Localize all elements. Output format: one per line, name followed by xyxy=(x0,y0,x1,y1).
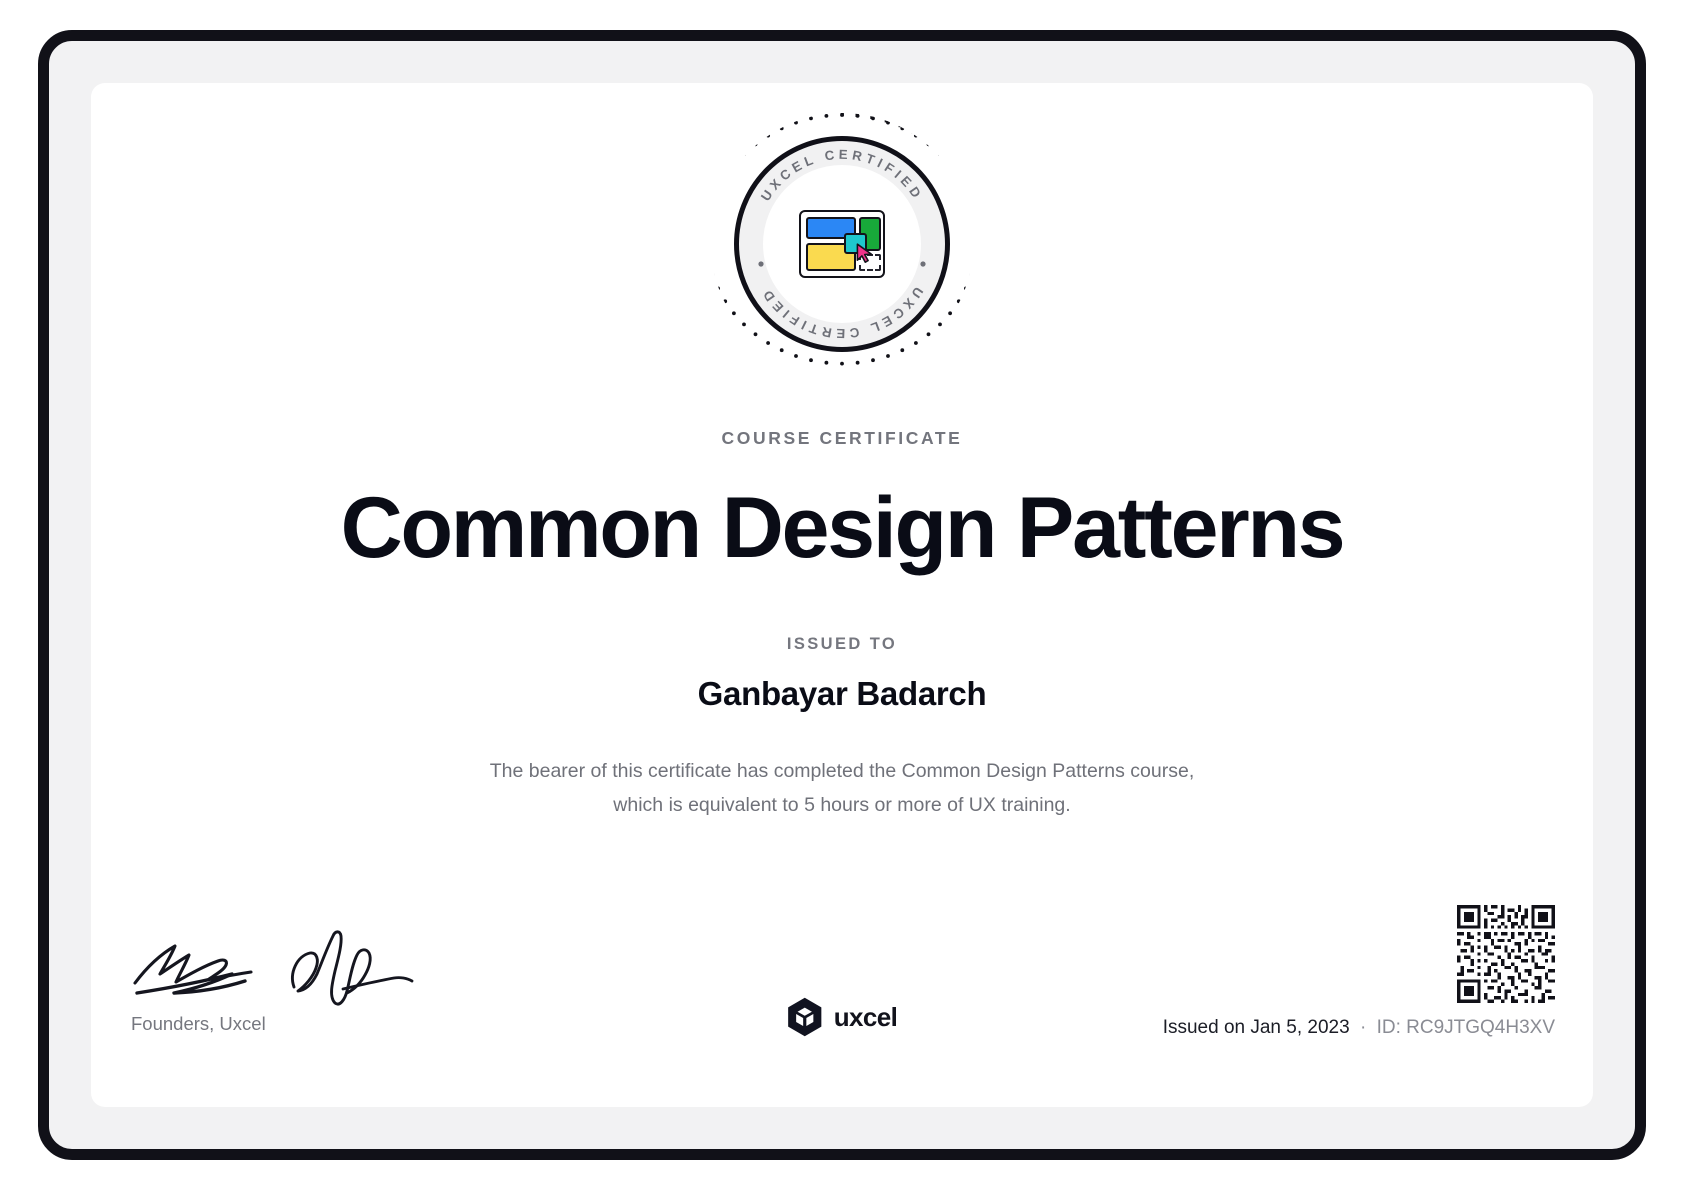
certificate-kicker: COURSE CERTIFICATE xyxy=(91,428,1593,449)
issued-to-label: ISSUED TO xyxy=(91,635,1593,654)
seal-text-bottom: UXCEL CERTIFIED xyxy=(758,284,926,341)
founder-signatures-icon xyxy=(131,927,416,1009)
certificate-meta: Issued on Jan 5, 2023 · ID: RC9JTGQ4H3XV xyxy=(1163,905,1555,1039)
qr-code-icon xyxy=(1457,905,1555,1003)
certificate-id-text: ID: RC9JTGQ4H3XV xyxy=(1377,1017,1555,1038)
course-title: Common Design Patterns xyxy=(91,483,1593,573)
meta-separator: · xyxy=(1360,1017,1366,1038)
design-patterns-layout-icon xyxy=(799,210,885,278)
seal-bullet-left-icon xyxy=(758,261,763,266)
uxcel-certified-seal: UXCEL CERTIFIED UXCEL CERTIFIED xyxy=(711,113,973,375)
uxcel-hexagon-cube-logo-icon xyxy=(787,997,823,1037)
verification-qr-code[interactable] xyxy=(1457,905,1555,1003)
recipient-name: Ganbayar Badarch xyxy=(91,675,1593,713)
mouse-cursor-icon xyxy=(856,243,874,263)
issued-on-text: Issued on Jan 5, 2023 xyxy=(1163,1017,1350,1038)
certificate-body: UXCEL CERTIFIED UXCEL CERTIFIED xyxy=(91,83,1593,1107)
signature-block: Founders, Uxcel xyxy=(131,927,431,1037)
certificate-frame: UXCEL CERTIFIED UXCEL CERTIFIED xyxy=(38,30,1646,1160)
uxcel-brand-lockup: uxcel xyxy=(787,997,898,1037)
seal-text-top: UXCEL CERTIFIED xyxy=(758,147,926,204)
certificate-description: The bearer of this certificate has compl… xyxy=(472,755,1212,822)
seal-bullet-right-icon xyxy=(920,261,925,266)
signature-caption: Founders, Uxcel xyxy=(131,1013,431,1035)
issue-meta-line: Issued on Jan 5, 2023 · ID: RC9JTGQ4H3XV xyxy=(1163,1017,1555,1039)
uxcel-wordmark: uxcel xyxy=(834,1002,898,1033)
